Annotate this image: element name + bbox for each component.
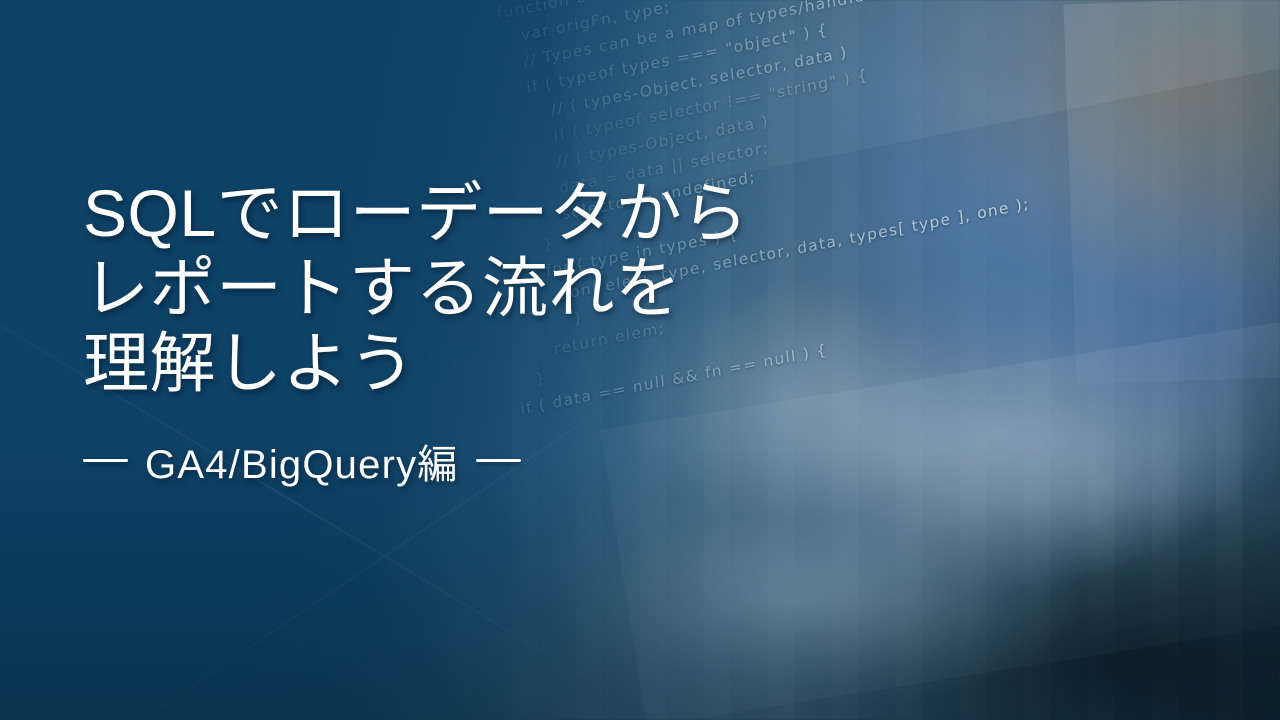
subtitle: GA4/BigQuery編 — [83, 432, 843, 490]
dash-left-icon — [83, 459, 128, 462]
page-title-line-1: SQLでローデータから — [83, 176, 843, 251]
page-title-line-3: 理解しよう — [83, 326, 843, 401]
article-hero-banner: ctSync( elem, type ) { return ( elem ===… — [0, 0, 1280, 720]
headline-block: SQLでローデータから レポートする流れを 理解しよう GA4/BigQuery… — [83, 176, 843, 490]
subtitle-label: GA4/BigQuery編 — [145, 432, 459, 490]
page-title-line-2: レポートする流れを — [83, 251, 843, 326]
dash-right-icon — [476, 459, 521, 462]
